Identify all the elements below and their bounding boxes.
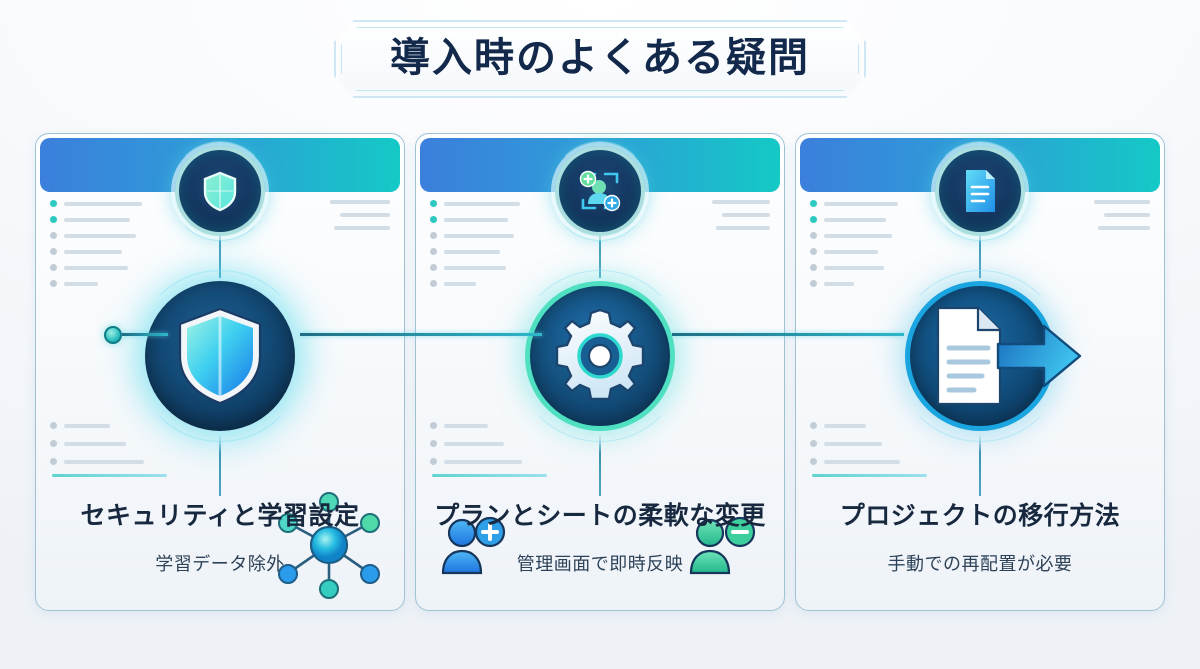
card-text-block: セキュリティと学習設定 学習データ除外 [36,501,404,576]
card-hero-icon-migration [900,276,1060,436]
bullet-dot-icon [430,280,437,287]
decorative-arc [170,141,270,241]
card-mini-badge [935,146,1025,236]
connector-stalk [979,434,981,496]
card-mini-badge [175,146,265,236]
bullet-dot-icon [430,216,437,223]
bullet-dot-icon [50,458,57,465]
bullet-dot-icon [810,440,817,447]
decorative-bullet-list-bottom-left [810,422,900,465]
bullet-dot-icon [430,232,437,239]
connector-line [122,333,168,336]
decorative-bullet-list-top-right [1094,200,1150,230]
page-header: 導入時のよくある疑問 [0,20,1200,98]
decorative-underline [52,474,167,477]
card-plan-seat-change[interactable]: プランとシートの柔軟な変更 管理画面で即時反映 [415,133,785,611]
bullet-dot-icon [810,232,817,239]
card-title: プランとシートの柔軟な変更 [430,501,770,532]
bullet-dot-icon [50,248,57,255]
decorative-bullet-list-top-left [50,200,142,287]
bullet-dot-icon [430,440,437,447]
connector-stalk [219,434,221,496]
decorative-arc [930,141,1030,241]
bullet-dot-icon [810,280,817,287]
card-title: プロジェクトの移行方法 [810,501,1150,532]
card-hero-icon-settings [520,276,680,436]
bullet-dot-icon [810,422,817,429]
cards-row: セキュリティと学習設定 学習データ除外 [0,133,1200,613]
bullet-dot-icon [810,264,817,271]
bullet-dot-icon [810,458,817,465]
card-subtitle: 管理画面で即時反映 [430,553,770,576]
bullet-dot-icon [50,232,57,239]
gear-icon [548,304,652,408]
decorative-bullet-list-bottom-left [430,422,522,465]
card-subtitle: 学習データ除外 [50,553,390,576]
decorative-bullet-list-top-right [712,200,770,230]
title-badge-frame: 導入時のよくある疑問 [334,20,866,98]
bullet-dot-icon [810,248,817,255]
bullet-dot-icon [50,200,57,207]
bullet-dot-icon [430,200,437,207]
card-security-learning-settings[interactable]: セキュリティと学習設定 学習データ除外 [35,133,405,611]
decorative-bullet-list-top-left [430,200,520,287]
card-mini-badge [555,146,645,236]
bullet-dot-icon [810,200,817,207]
decorative-underline [812,474,927,477]
decorative-arc [550,141,650,241]
connector-line [672,333,904,336]
card-subtitle: 手動での再配置が必要 [810,553,1150,576]
card-title: セキュリティと学習設定 [50,501,390,532]
decorative-bullet-list-top-right [330,200,390,230]
decorative-underline [432,474,547,477]
shield-icon [172,304,268,408]
bullet-dot-icon [430,264,437,271]
card-hero-icon-security [140,276,300,436]
decorative-bullet-list-top-left [810,200,898,287]
decorative-bullet-list-bottom-left [50,422,144,465]
connector-line [300,333,542,336]
bullet-dot-icon [50,264,57,271]
bullet-dot-icon [430,248,437,255]
connector-stalk [599,434,601,496]
bullet-dot-icon [50,422,57,429]
card-project-migration[interactable]: プロジェクトの移行方法 手動での再配置が必要 [795,133,1165,611]
bullet-dot-icon [810,216,817,223]
connector-node [104,326,122,344]
card-text-block: プランとシートの柔軟な変更 管理画面で即時反映 [416,501,784,576]
bullet-dot-icon [50,440,57,447]
page-title: 導入時のよくある疑問 [390,35,810,81]
bullet-dot-icon [430,422,437,429]
bullet-dot-icon [430,458,437,465]
arrow-right-icon [996,322,1082,392]
bullet-dot-icon [50,280,57,287]
bullet-dot-icon [50,216,57,223]
card-text-block: プロジェクトの移行方法 手動での再配置が必要 [796,501,1164,576]
